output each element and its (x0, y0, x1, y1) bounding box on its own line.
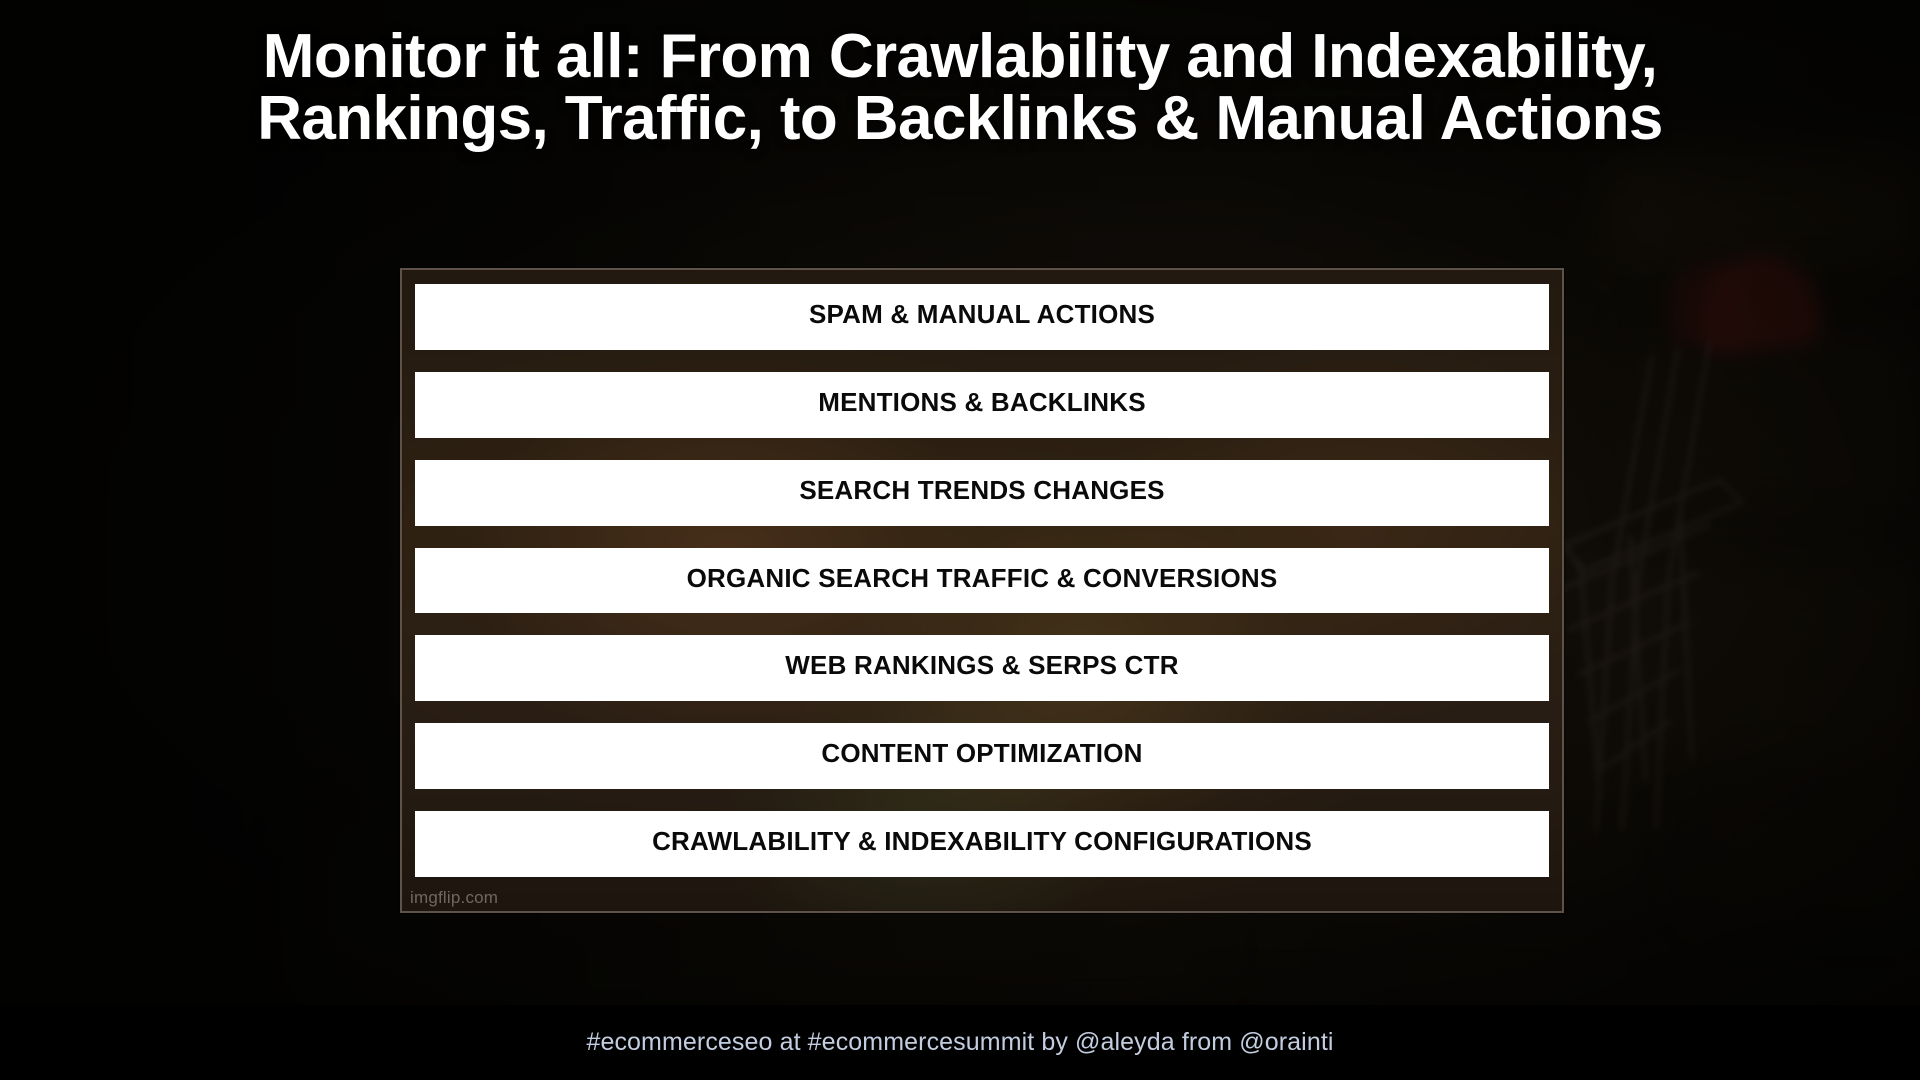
list-item: SEARCH TRENDS CHANGES (415, 460, 1549, 526)
monitoring-layers-list: SPAM & MANUAL ACTIONS MENTIONS & BACKLIN… (415, 284, 1549, 877)
list-item-label: SEARCH TRENDS CHANGES (799, 477, 1164, 503)
list-item: WEB RANKINGS & SERPS CTR (415, 635, 1549, 701)
slide-footer: #ecommerceseo at #ecommercesummit by @al… (0, 1005, 1920, 1080)
image-card: SPAM & MANUAL ACTIONS MENTIONS & BACKLIN… (400, 268, 1564, 913)
list-item-label: CRAWLABILITY & INDEXABILITY CONFIGURATIO… (652, 828, 1312, 854)
presentation-slide: Monitor it all: From Crawlability and In… (0, 0, 1920, 1080)
list-item-label: WEB RANKINGS & SERPS CTR (785, 652, 1178, 678)
list-item-label: CONTENT OPTIMIZATION (821, 740, 1142, 766)
list-item-label: ORGANIC SEARCH TRAFFIC & CONVERSIONS (687, 565, 1278, 591)
footer-credit-text: #ecommerceseo at #ecommercesummit by @al… (586, 1028, 1333, 1057)
list-item: MENTIONS & BACKLINKS (415, 372, 1549, 438)
list-item-label: MENTIONS & BACKLINKS (818, 389, 1146, 415)
list-item: ORGANIC SEARCH TRAFFIC & CONVERSIONS (415, 548, 1549, 614)
list-item: CONTENT OPTIMIZATION (415, 723, 1549, 789)
list-item: CRAWLABILITY & INDEXABILITY CONFIGURATIO… (415, 811, 1549, 877)
list-item: SPAM & MANUAL ACTIONS (415, 284, 1549, 350)
list-item-label: SPAM & MANUAL ACTIONS (809, 301, 1155, 327)
slide-title: Monitor it all: From Crawlability and In… (0, 26, 1920, 150)
